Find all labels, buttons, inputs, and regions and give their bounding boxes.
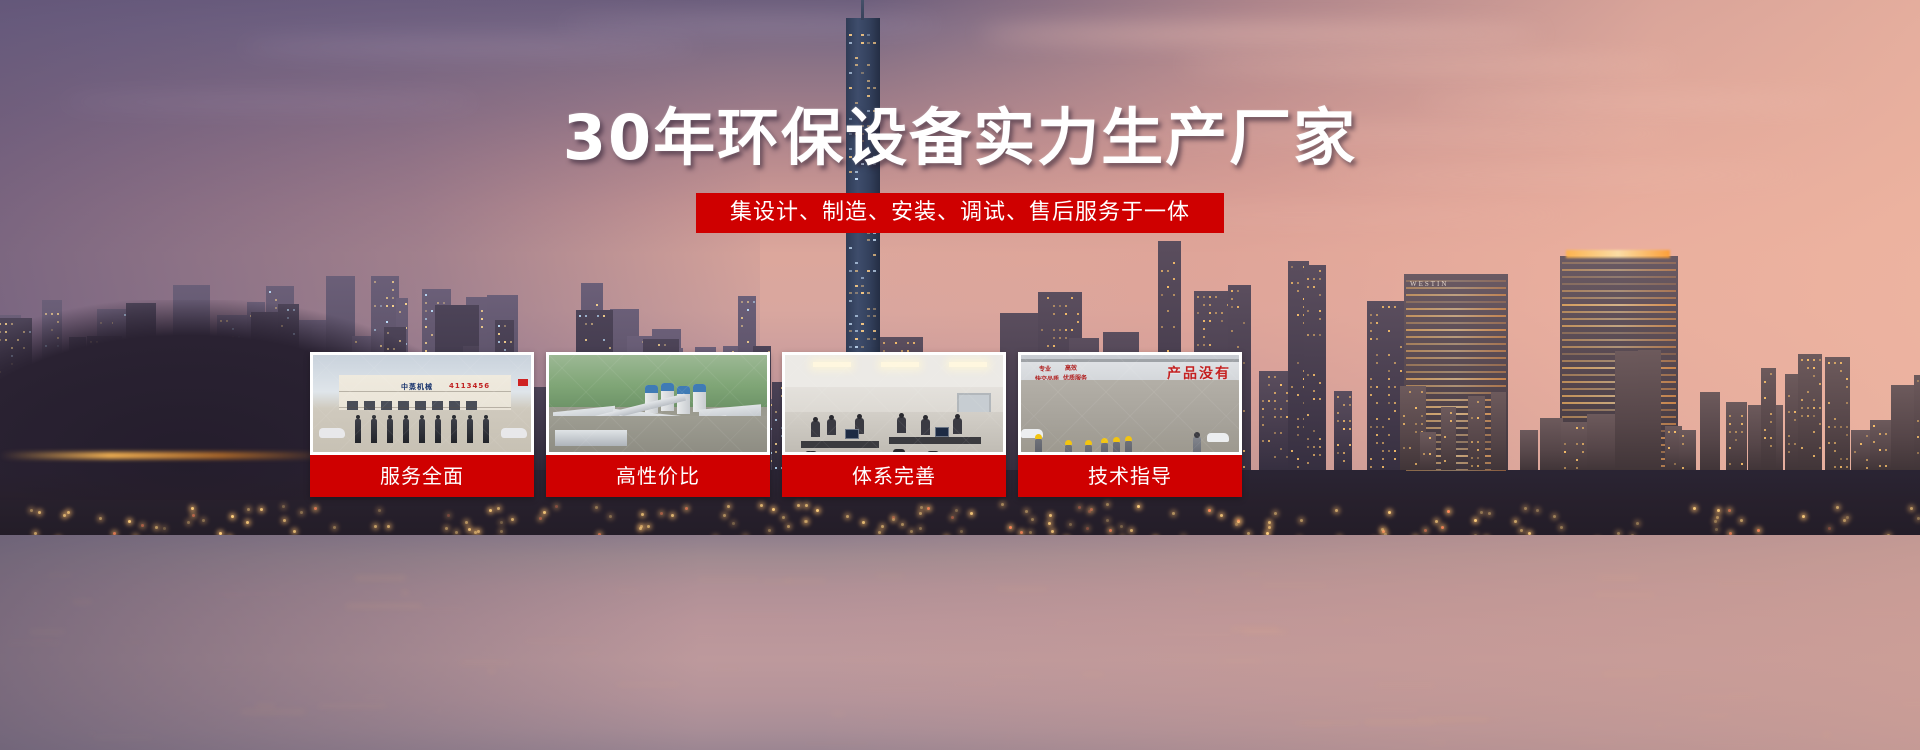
feature-card[interactable]: 高性价比 <box>546 352 770 497</box>
supervisor-figure <box>1193 437 1201 452</box>
staff-figure <box>419 419 425 443</box>
worker-figure <box>1065 445 1072 452</box>
ceiling-lamp <box>813 362 851 367</box>
staff-figure <box>371 419 377 443</box>
plant-shed <box>555 430 627 446</box>
card-photo-office-interior <box>785 355 1003 452</box>
feature-card[interactable]: 中蒸机械 4113456 <box>310 352 534 497</box>
staff-figure <box>387 419 393 443</box>
parked-car <box>501 428 527 438</box>
card-caption: 高性价比 <box>546 455 770 497</box>
banner-subtitle-bar: 集设计、制造、安装、调试、售后服务于一体 <box>696 193 1224 233</box>
worker-figure <box>1035 439 1042 452</box>
card-caption: 服务全面 <box>310 455 534 497</box>
feature-card[interactable]: 体系完善 <box>782 352 1006 497</box>
office-worker <box>811 421 820 437</box>
ceiling-lamp <box>949 362 987 367</box>
monitor <box>845 429 859 439</box>
staff-figure <box>355 419 361 443</box>
feature-card-list: 中蒸机械 4113456 <box>310 352 1255 497</box>
factory-slogan-text: 高效 <box>1065 366 1077 373</box>
worker-figure <box>1125 441 1132 452</box>
flag-icon <box>518 379 528 386</box>
staff-figure <box>451 419 457 443</box>
staff-figure <box>467 419 473 443</box>
worker-figure <box>1085 445 1092 452</box>
monitor <box>935 427 949 437</box>
office-worker <box>897 417 906 433</box>
factory-roofline <box>1021 359 1239 362</box>
feature-card[interactable]: 产品没有 专业 高效 快交品质 优质服务 <box>1018 352 1242 497</box>
company-phone-text: 4113456 <box>449 382 490 390</box>
window-row <box>347 395 503 404</box>
staff-figure <box>435 419 441 443</box>
card-caption: 体系完善 <box>782 455 1006 497</box>
ceiling-lamp <box>881 362 919 367</box>
worker-figure <box>1101 443 1108 452</box>
card-photo-plant-aerial <box>549 355 767 452</box>
hero-banner: WESTIN 30年环保设备实力生产厂家 集设计、制造、安装、调试、售后服务于一… <box>0 0 1920 750</box>
office-worker <box>953 418 962 434</box>
worker-figure <box>1113 442 1120 452</box>
silo <box>693 384 706 412</box>
staff-figure <box>403 419 409 443</box>
parked-car <box>319 428 345 438</box>
card-photo-factory-meeting: 产品没有 专业 高效 快交品质 优质服务 <box>1021 355 1239 452</box>
card-caption: 技术指导 <box>1018 455 1242 497</box>
card-photo-office-building: 中蒸机械 4113456 <box>313 355 531 452</box>
office-chair <box>805 451 817 452</box>
office-desk <box>889 437 981 444</box>
office-desk <box>801 441 879 448</box>
factory-slogan-text: 专业 <box>1039 367 1051 374</box>
office-chair <box>927 451 939 452</box>
staff-figure <box>483 419 489 443</box>
office-worker <box>827 419 836 435</box>
office-chair <box>893 449 905 452</box>
banner-content: 30年环保设备实力生产厂家 集设计、制造、安装、调试、售后服务于一体 中蒸机械 … <box>0 0 1920 750</box>
banner-headline: 30年环保设备实力生产厂家 <box>0 104 1920 172</box>
office-ceiling <box>785 355 1003 387</box>
office-worker <box>921 419 930 435</box>
parked-car <box>1207 433 1229 442</box>
